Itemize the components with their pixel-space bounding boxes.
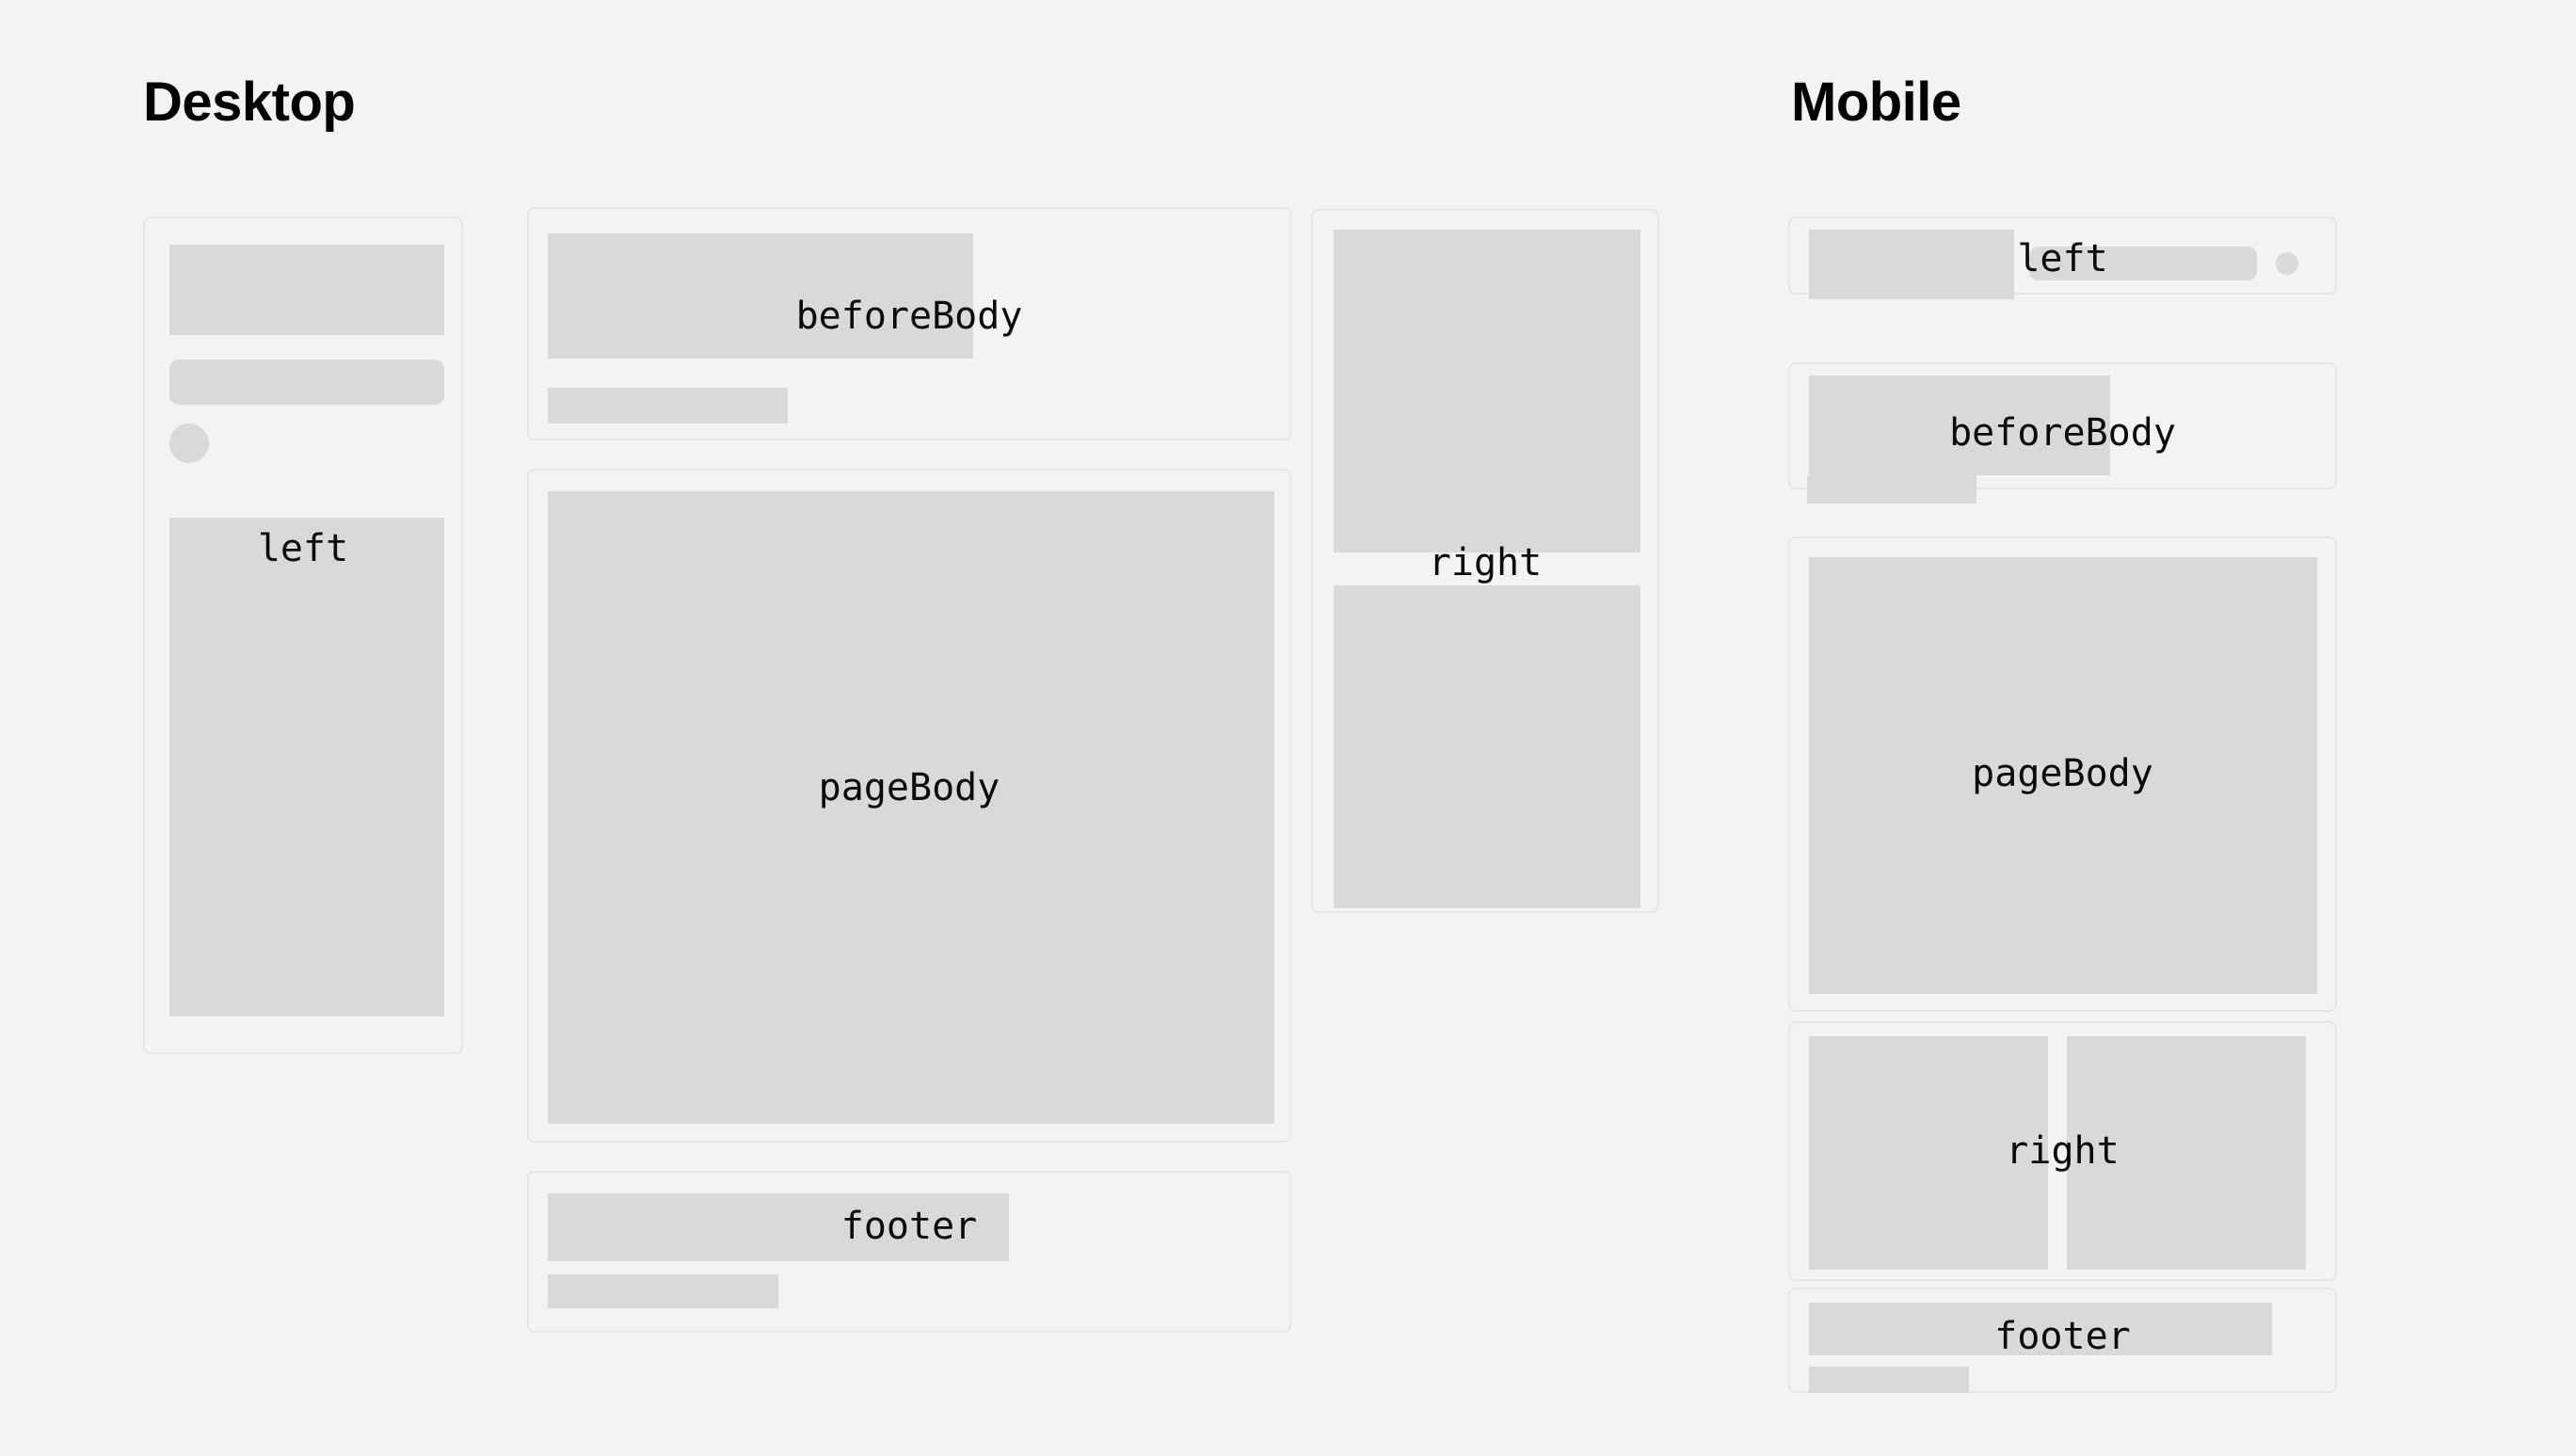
desktop-pagebody-slot-panel[interactable]: [527, 469, 1291, 1143]
desktop-left-slot-panel[interactable]: [143, 216, 463, 1054]
skeleton-block-large: [548, 491, 1274, 1124]
skeleton-block-large: [1809, 557, 2317, 994]
skeleton-block-dot-circle: [2276, 252, 2298, 275]
skeleton-block-upper: [1334, 230, 1640, 552]
layout-comparison-canvas: Desktop Mobile left beforeBody pageBody …: [0, 0, 2576, 1456]
skeleton-block-left: [1809, 1036, 2048, 1270]
skeleton-block-hero: [1809, 376, 2110, 475]
skeleton-block-hero: [169, 245, 444, 335]
mobile-section-heading: Mobile: [1791, 75, 1961, 130]
skeleton-block-short-bar: [1807, 475, 1976, 504]
skeleton-block-hero: [548, 233, 973, 359]
skeleton-block-bar: [548, 388, 788, 424]
desktop-footer-slot-panel[interactable]: [527, 1171, 1291, 1333]
skeleton-block-short-bar: [548, 1274, 778, 1308]
skeleton-block-short-bar: [1809, 1367, 1969, 1393]
skeleton-block-bar: [2029, 247, 2257, 280]
mobile-beforebody-slot-panel[interactable]: [1788, 362, 2337, 489]
skeleton-block-avatar-circle: [169, 424, 209, 463]
skeleton-block-bar: [169, 360, 444, 405]
skeleton-block-right: [2067, 1036, 2306, 1270]
desktop-right-slot-panel[interactable]: [1311, 209, 1659, 913]
desktop-section-heading: Desktop: [143, 75, 355, 130]
skeleton-block-lower: [1334, 585, 1640, 908]
skeleton-block-wide-bar: [1809, 1303, 2272, 1355]
skeleton-block-tall: [169, 518, 444, 1016]
mobile-right-slot-panel[interactable]: [1788, 1021, 2337, 1281]
mobile-pagebody-slot-panel[interactable]: [1788, 536, 2337, 1012]
skeleton-block-rect: [1809, 230, 2014, 299]
desktop-beforebody-slot-panel[interactable]: [527, 207, 1291, 440]
mobile-left-slot-panel[interactable]: [1788, 216, 2337, 295]
skeleton-block-wide-bar: [548, 1193, 1009, 1261]
mobile-footer-slot-panel[interactable]: [1788, 1288, 2337, 1393]
